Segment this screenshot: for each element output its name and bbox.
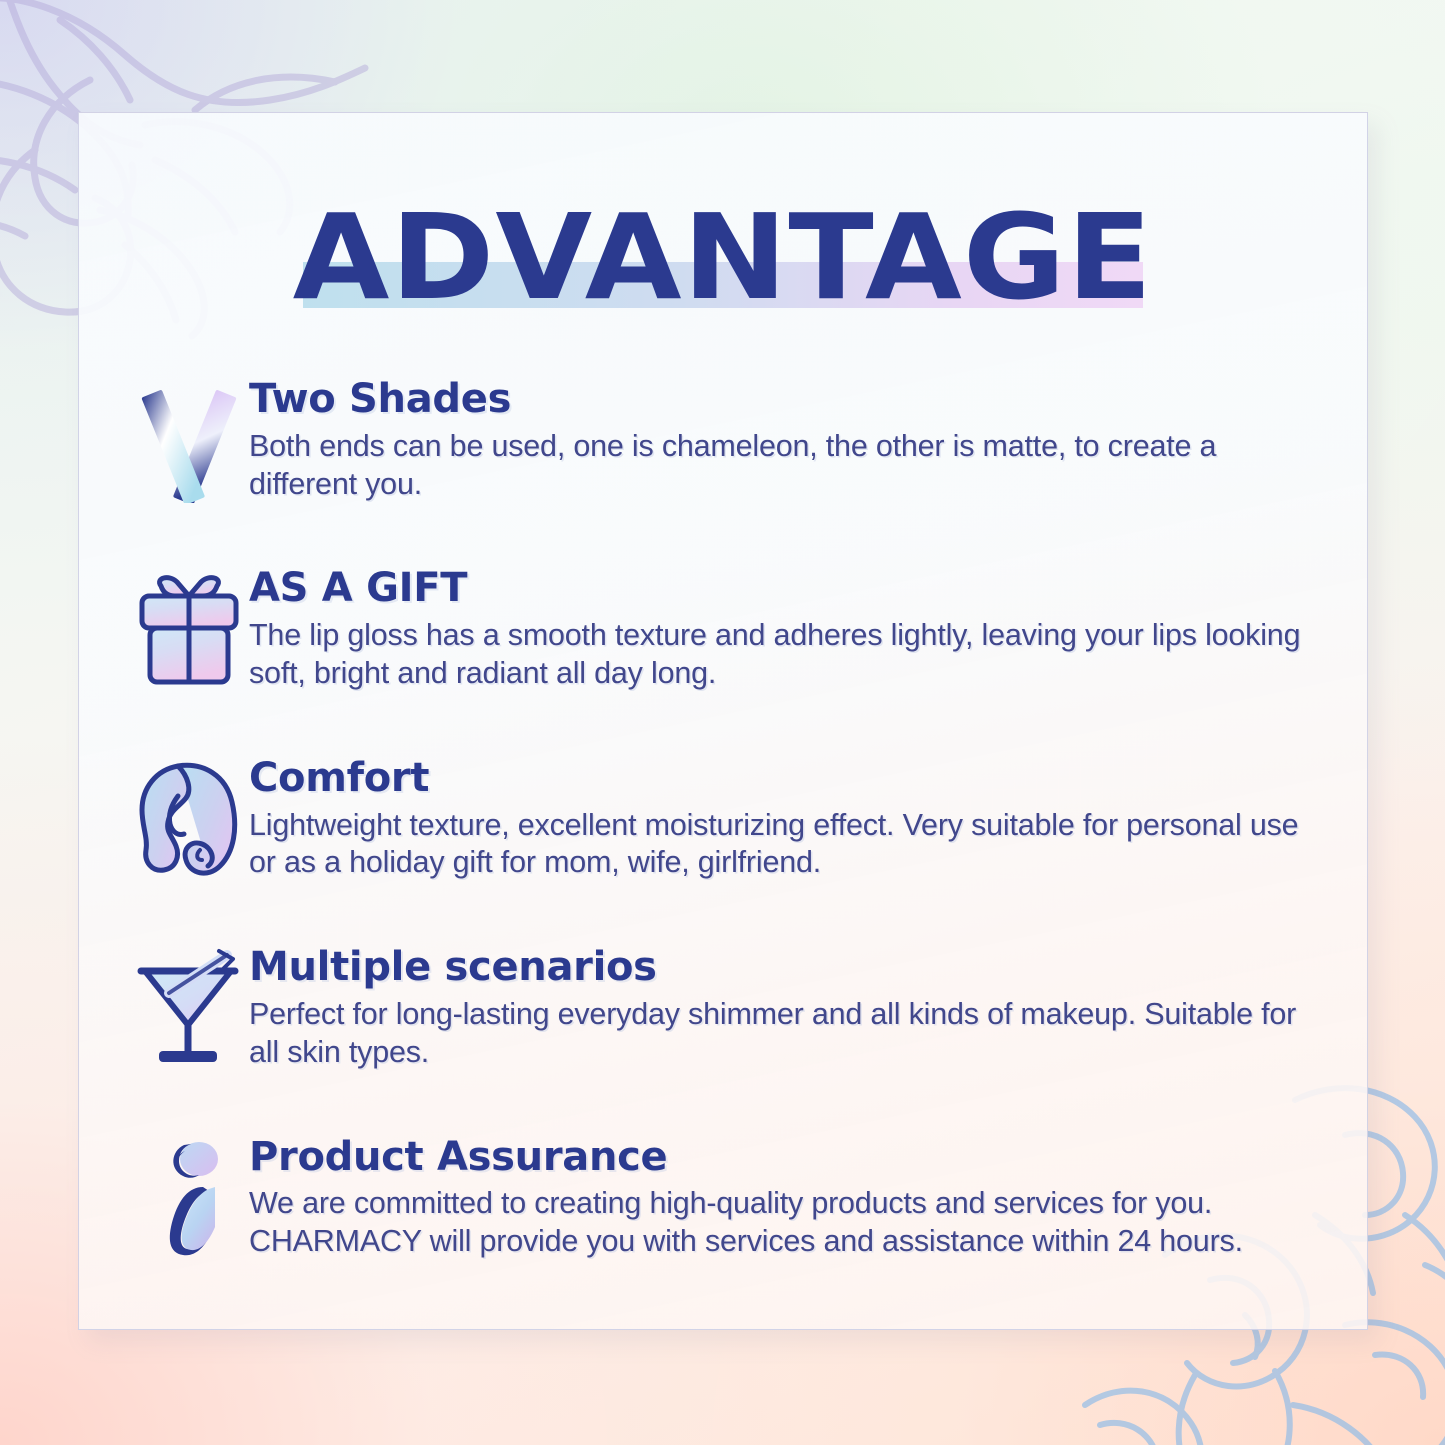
feature-title: Product Assurance xyxy=(249,1135,1327,1180)
feature-title: Multiple scenarios xyxy=(249,945,1327,990)
page-title-text: ADVANTAGE xyxy=(293,195,1153,320)
crossed-lipsticks-icon xyxy=(129,379,249,503)
woman-profile-icon xyxy=(129,758,249,882)
content-card: ADVANTAGE xyxy=(78,112,1368,1330)
gift-box-icon xyxy=(129,568,249,692)
feature-title: Comfort xyxy=(249,756,1327,801)
info-i-icon xyxy=(129,1137,249,1261)
feature-title: AS A GIFT xyxy=(249,566,1327,611)
cocktail-glass-icon xyxy=(129,947,249,1071)
feature-description: The lip gloss has a smooth texture and a… xyxy=(249,617,1327,693)
feature-item: Multiple scenarios Perfect for long-last… xyxy=(79,943,1367,1071)
feature-item: AS A GIFT The lip gloss has a smooth tex… xyxy=(79,564,1367,692)
feature-description: Lightweight texture, excellent moisturiz… xyxy=(249,807,1327,883)
feature-title: Two Shades xyxy=(249,377,1327,422)
advantage-infographic: ADVANTAGE xyxy=(0,0,1445,1445)
feature-description: We are committed to creating high-qualit… xyxy=(249,1185,1327,1261)
feature-item: Two Shades Both ends can be used, one is… xyxy=(79,375,1367,503)
feature-description: Perfect for long-lasting everyday shimme… xyxy=(249,996,1327,1072)
feature-description: Both ends can be used, one is chameleon,… xyxy=(249,428,1327,504)
page-title: ADVANTAGE xyxy=(79,195,1367,320)
feature-list: Two Shades Both ends can be used, one is… xyxy=(79,375,1367,1261)
feature-item: Comfort Lightweight texture, excellent m… xyxy=(79,754,1367,882)
feature-item: Product Assurance We are committed to cr… xyxy=(79,1133,1367,1261)
